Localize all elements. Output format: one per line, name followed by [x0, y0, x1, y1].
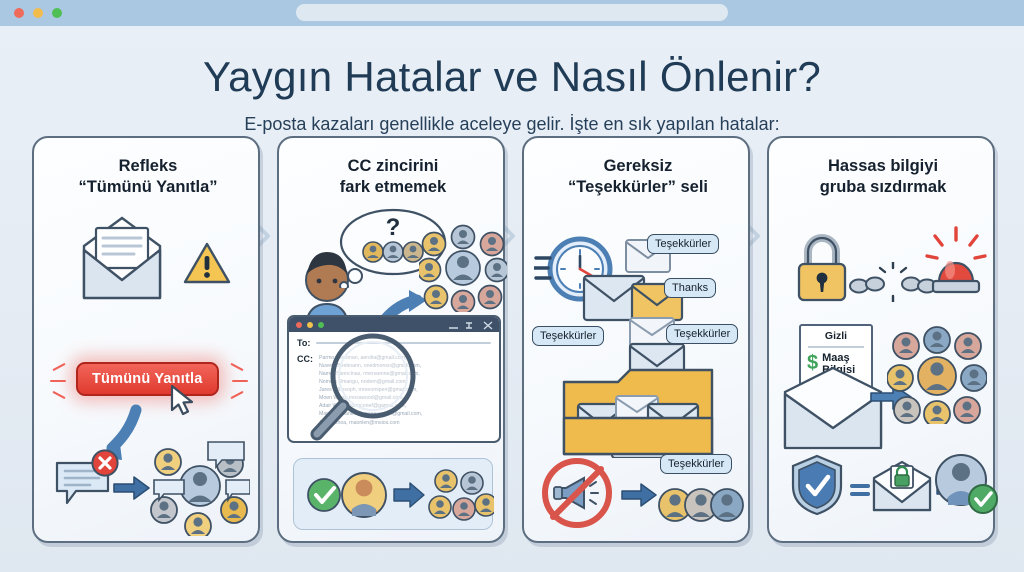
shield-check-icon — [789, 454, 845, 521]
thanks-bubble: Teşekkürler — [647, 234, 719, 254]
people-group-icon — [887, 324, 987, 429]
browser-chrome — [0, 0, 1024, 26]
padlock-icon — [793, 232, 851, 309]
spark-icon — [232, 380, 248, 382]
doc-header: Gizli — [801, 330, 871, 342]
inbox-folder-icon — [556, 348, 720, 463]
no-megaphone-icon — [540, 456, 614, 535]
spark-icon — [230, 363, 243, 371]
panel-title: Gereksiz “Teşekkürler” seli — [532, 156, 744, 198]
window-controls — [14, 8, 62, 18]
page-content: Yaygın Hatalar ve Nasıl Önlenir? E-posta… — [0, 26, 1024, 572]
spark-icon — [50, 380, 66, 382]
equals-icon — [849, 482, 871, 503]
panel-title: CC zincirini fark etmemek — [287, 156, 499, 198]
people-group-icon — [150, 434, 250, 536]
panel-thanks-flood[interactable]: Gereksiz “Teşekkürler” seli — [522, 136, 750, 543]
minimize-icon[interactable] — [307, 322, 313, 328]
cursor-pointer-icon — [168, 384, 198, 423]
thanks-bubble: Teşekkürler — [532, 326, 604, 346]
reply-all-highlight: Tümünü Yanıtla — [50, 356, 246, 406]
spark-icon — [230, 391, 243, 399]
magnifier-icon — [307, 328, 423, 451]
panel-title: Hassas bilgiyi gruba sızdırmak — [777, 156, 989, 198]
thanks-bubble-footer: Teşekkürler — [660, 454, 732, 474]
arrow-right-icon — [620, 482, 658, 513]
panel-sensitive-leak[interactable]: Hassas bilgiyi gruba sızdırmak — [767, 136, 995, 543]
people-group-icon — [419, 222, 507, 312]
window-controls-icon[interactable] — [446, 320, 494, 330]
verified-user-icon — [933, 450, 999, 521]
warning-triangle-icon — [182, 240, 232, 291]
page-subtitle: E-posta kazaları genellikle aceleye geli… — [0, 114, 1024, 135]
panel-title: Refleks “Tümünü Yanıtla” — [42, 156, 254, 198]
close-button[interactable] — [14, 8, 24, 18]
svg-text:?: ? — [386, 214, 401, 241]
panel-cc-chain[interactable]: CC zincirini fark etmemek ? — [277, 136, 505, 543]
maximize-icon[interactable] — [318, 322, 324, 328]
thanks-bubble: Teşekkürler — [666, 324, 738, 344]
alarm-siren-icon — [925, 226, 987, 305]
spark-icon — [52, 391, 65, 399]
thanks-bubble: Thanks — [664, 278, 716, 298]
correct-usage-card — [293, 458, 493, 530]
close-icon[interactable] — [296, 322, 302, 328]
panels-container: Refleks “Tümünü Yanıtla” — [0, 136, 1024, 556]
address-bar[interactable] — [296, 4, 728, 21]
panel-reply-all[interactable]: Refleks “Tümünü Yanıtla” — [32, 136, 260, 543]
arrow-right-icon — [112, 474, 152, 507]
minimize-button[interactable] — [33, 8, 43, 18]
maximize-button[interactable] — [52, 8, 62, 18]
page-title: Yaygın Hatalar ve Nasıl Önlenir? — [0, 53, 1024, 101]
locked-envelope-icon — [871, 460, 933, 517]
people-group-icon — [658, 484, 744, 531]
open-envelope-icon — [66, 212, 178, 309]
spark-icon — [52, 363, 65, 371]
doc-divider — [808, 346, 864, 348]
doc-line-1: Maaş — [822, 352, 850, 364]
